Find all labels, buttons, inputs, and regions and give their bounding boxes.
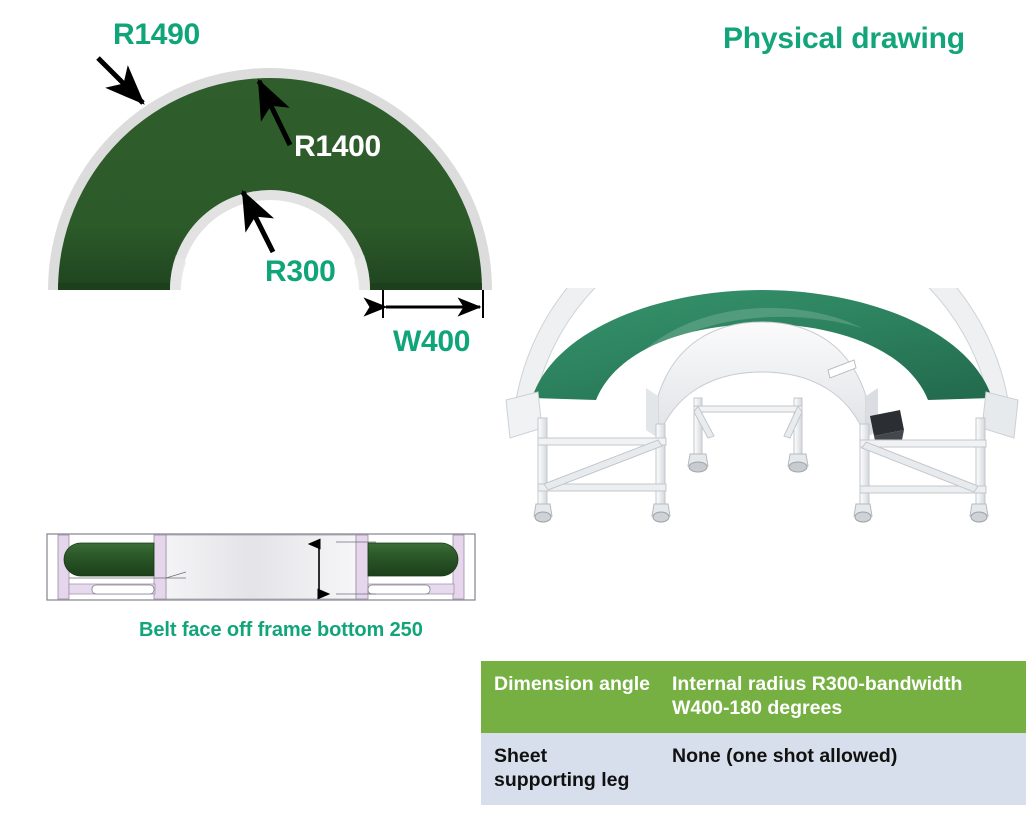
table-row: Dimension angle Internal radius R300-ban… [481,661,1026,733]
label-r1490: R1490 [113,18,200,52]
sideview-roller-right [368,543,458,576]
spec-sheet-page: Physical drawing [0,0,1030,824]
sideview-roller-left [64,543,154,576]
page-title-physical-drawing: Physical drawing [723,22,965,56]
label-w400: W400 [393,325,470,359]
photo-center-legs [694,398,802,460]
leader-arrow-r1490 [98,58,143,103]
caption-belt-face-height: Belt face off frame bottom 250 [139,619,423,642]
spec-label-dimension-angle: Dimension angle [481,661,659,733]
photo-end-frame-left [506,392,542,438]
product-photo-curved-conveyor [498,288,1026,523]
photo-end-frame-right [982,392,1018,438]
label-r1400: R1400 [294,130,381,164]
belt-end-edge-left [58,283,170,290]
table-row: Sheet supporting leg None (one shot allo… [481,733,1026,805]
sideview-center-body [166,535,356,599]
leader-arrow-r300 [243,192,273,252]
photo-inner-hub [658,322,866,438]
photo-leg-stand-left [538,418,666,510]
plan-view-arc-diagram [0,0,520,380]
section-side-view [46,528,476,608]
belt-end-edge-right [370,283,482,290]
spec-value-sheet-supporting-leg: None (one shot allowed) [659,733,1026,805]
spec-value-dimension-angle: Internal radius R300-bandwidth W400-180 … [659,661,1026,733]
spec-label-sheet-supporting-leg: Sheet supporting leg [481,733,659,805]
spec-table: Dimension angle Internal radius R300-ban… [481,661,1026,805]
label-r300: R300 [265,255,336,289]
